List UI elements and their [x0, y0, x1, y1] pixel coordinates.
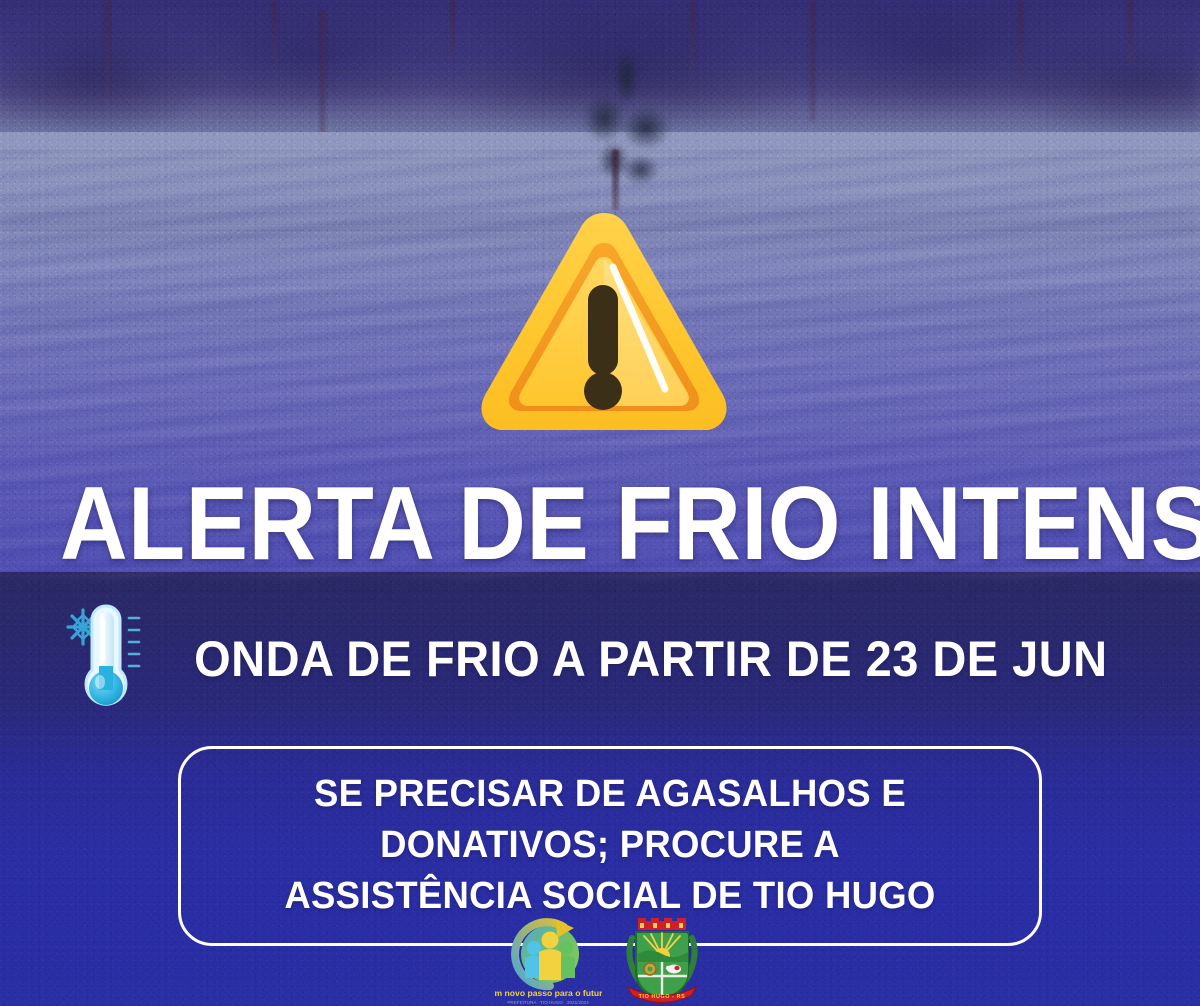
svg-text:TIO HUGO - RS: TIO HUGO - RS [639, 994, 686, 1000]
poster-content: ALERTA DE FRIO INTENSO [0, 0, 1200, 1006]
prefeitura-slogan-logo: Um novo passo para o futuro PREFEITURA ·… [494, 918, 602, 1006]
page-title: ALERTA DE FRIO INTENSO [60, 472, 1140, 576]
subtitle-row: ONDA DE FRIO A PARTIR DE 23 DE JUN [0, 600, 1200, 718]
logo-strip: Um novo passo para o futuro PREFEITURA ·… [0, 914, 1200, 1006]
alert-poster: ALERTA DE FRIO INTENSO [0, 0, 1200, 1006]
subtitle-text: ONDA DE FRIO A PARTIR DE 23 DE JUN [194, 634, 1107, 684]
cold-thermometer-snowflake-icon [63, 600, 149, 718]
tio-hugo-coat-of-arms: TIO HUGO - RS [618, 918, 706, 1006]
cta-line: DONATIVOS; PROCURE A [198, 820, 1022, 871]
warning-triangle-exclamation-icon [475, 205, 733, 443]
svg-text:Um novo passo para o futuro: Um novo passo para o futuro [494, 988, 602, 998]
cta-line: SE PRECISAR DE AGASALHOS E [198, 769, 1022, 820]
svg-text:PREFEITURA · TIO HUGO · 2021/2: PREFEITURA · TIO HUGO · 2021/2024 [507, 1000, 589, 1005]
